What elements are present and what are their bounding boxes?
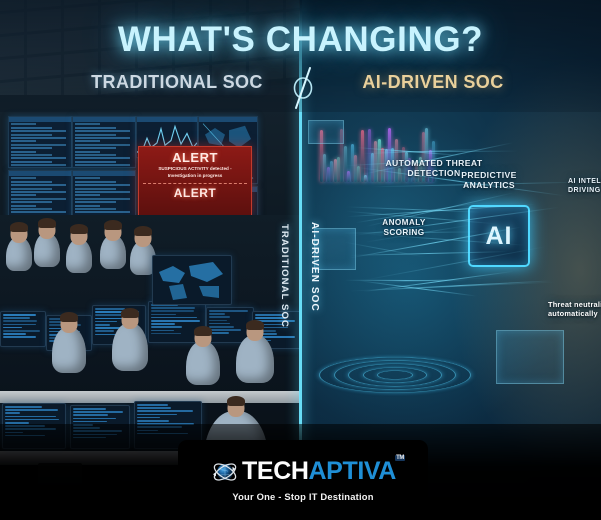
holo-panel-scoring — [314, 228, 356, 270]
alert-headline: ALERT — [139, 150, 251, 165]
brand-logo-row: TECHAPTIVA TM — [210, 457, 396, 487]
caption-ai-intelligence-stream: AI INTELLIGENCE DRIVING STREAM — [568, 178, 601, 195]
brand-text-aptiva: APTIVA — [309, 457, 396, 485]
slashed-circle-divider-icon — [286, 64, 320, 112]
vertical-label-ai: AI-DRIVEN SOC — [309, 222, 320, 312]
holo-panel-analytics — [496, 330, 564, 384]
vertical-label-traditional: TRADITIONAL SOC — [279, 224, 290, 328]
brand-text-tech: TECH — [242, 457, 308, 485]
caption-threat-neutralized: Threat neutralized automatically — [548, 300, 601, 318]
brand-tagline: Your One - Stop IT Destination — [232, 491, 373, 502]
holo-panel-feed — [308, 120, 344, 144]
page-title: WHAT'S CHANGING? — [0, 20, 601, 60]
globe-orbit-icon — [210, 457, 240, 487]
alert-message: SUSPICIOUS ACTIVITY detected - Investiga… — [139, 165, 251, 181]
poster-canvas: ALERT SUSPICIOUS ACTIVITY detected - Inv… — [0, 0, 601, 520]
caption-anomaly-scoring: ANOMALY SCORING — [372, 218, 436, 238]
alert-footer: ALERT — [139, 186, 251, 200]
trademark-icon: TM — [395, 455, 405, 461]
alert-divider — [143, 183, 247, 184]
alert-panel: ALERT SUSPICIOUS ACTIVITY detected - Inv… — [138, 146, 252, 216]
ai-chip-label: AI — [486, 222, 513, 251]
radar-rings — [320, 330, 470, 420]
caption-predictive-analytics: PREDICTIVE ANALYTICS — [452, 170, 526, 191]
subtitle-traditional: TRADITIONAL SOC — [62, 72, 292, 93]
subtitle-ai: AI-DRIVEN SOC — [318, 72, 548, 93]
brand-wordmark: TECHAPTIVA TM — [242, 459, 396, 484]
brand-logo-block: TECHAPTIVA TM Your One - Stop IT Destina… — [178, 440, 428, 518]
